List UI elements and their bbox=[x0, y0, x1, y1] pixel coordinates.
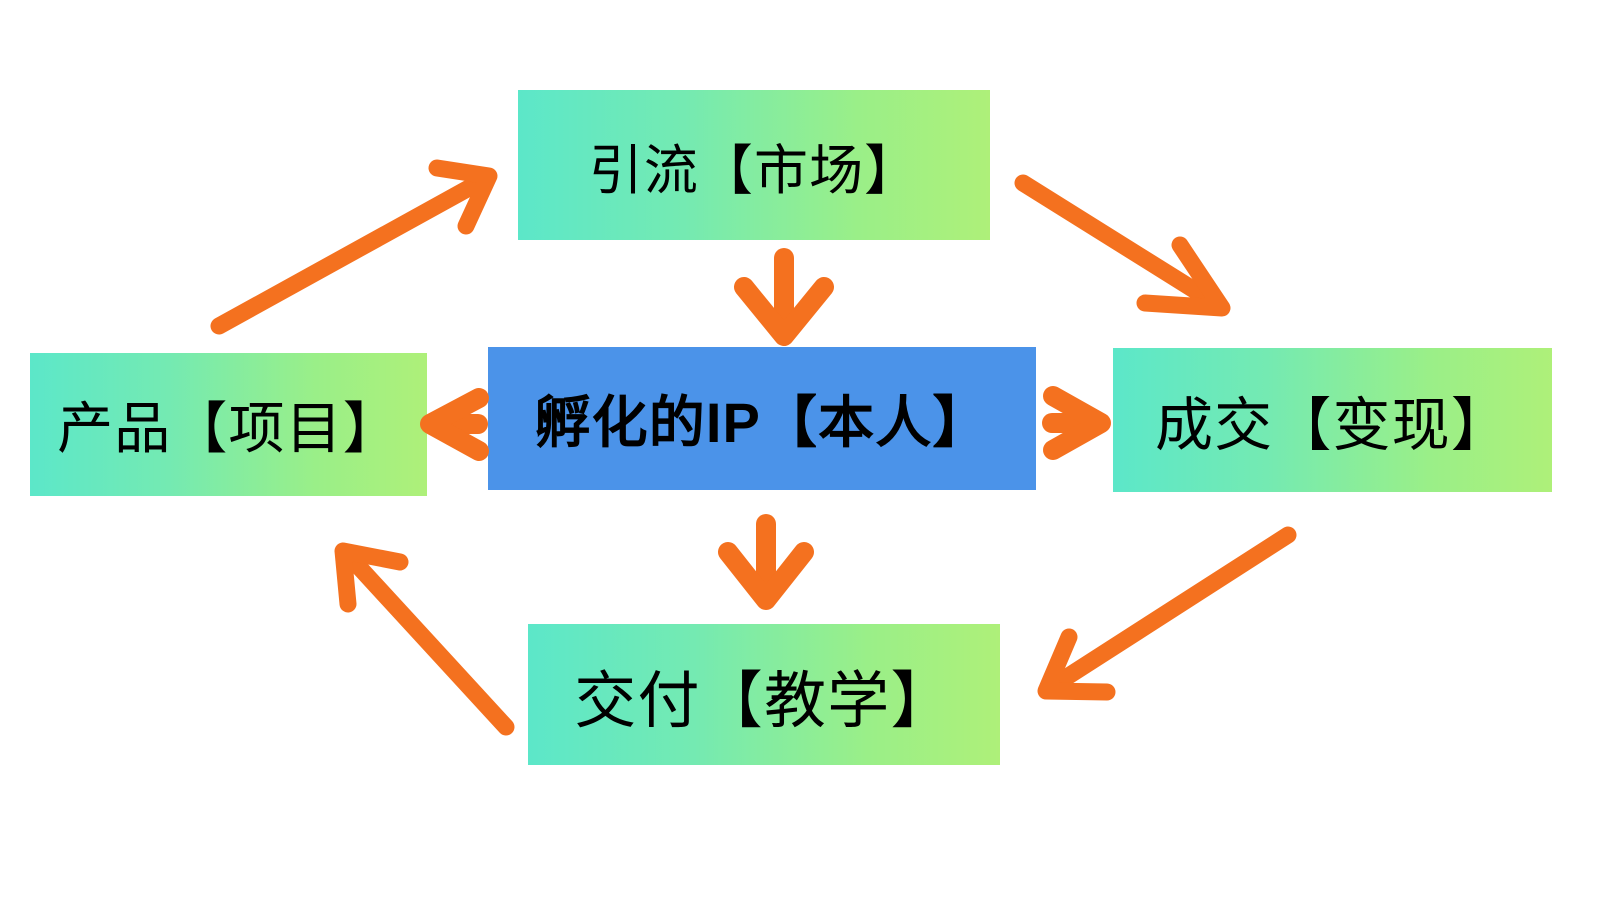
diagram-canvas: 引流【市场】 孵化的IP【本人】 产品【项目】 成交【变现】 交付【教学】 bbox=[0, 0, 1600, 900]
node-label: 交付【教学】 bbox=[574, 650, 953, 740]
node-label: 引流【市场】 bbox=[589, 126, 919, 205]
node-delivery[interactable]: 交付【教学】 bbox=[528, 624, 1000, 765]
arrow-top-to-right-icon bbox=[1023, 183, 1222, 308]
node-core-ip[interactable]: 孵化的IP【本人】 bbox=[488, 347, 1036, 490]
arrow-top-to-center-icon bbox=[744, 258, 824, 336]
arrow-left-to-top-icon bbox=[219, 168, 489, 326]
node-conversion[interactable]: 成交【变现】 bbox=[1113, 348, 1552, 492]
node-product[interactable]: 产品【项目】 bbox=[30, 353, 427, 496]
arrow-center-to-right-icon bbox=[1052, 396, 1101, 450]
node-label: 孵化的IP【本人】 bbox=[535, 378, 990, 459]
arrow-center-to-bottom-icon bbox=[728, 524, 804, 600]
arrow-right-to-bottom-icon bbox=[1046, 535, 1288, 692]
arrow-bottom-to-left-icon bbox=[343, 551, 506, 727]
node-label: 成交【变现】 bbox=[1155, 378, 1510, 462]
node-traffic-acquisition[interactable]: 引流【市场】 bbox=[518, 90, 990, 240]
arrow-center-to-left-icon bbox=[430, 398, 479, 451]
node-label: 产品【项目】 bbox=[57, 384, 400, 465]
